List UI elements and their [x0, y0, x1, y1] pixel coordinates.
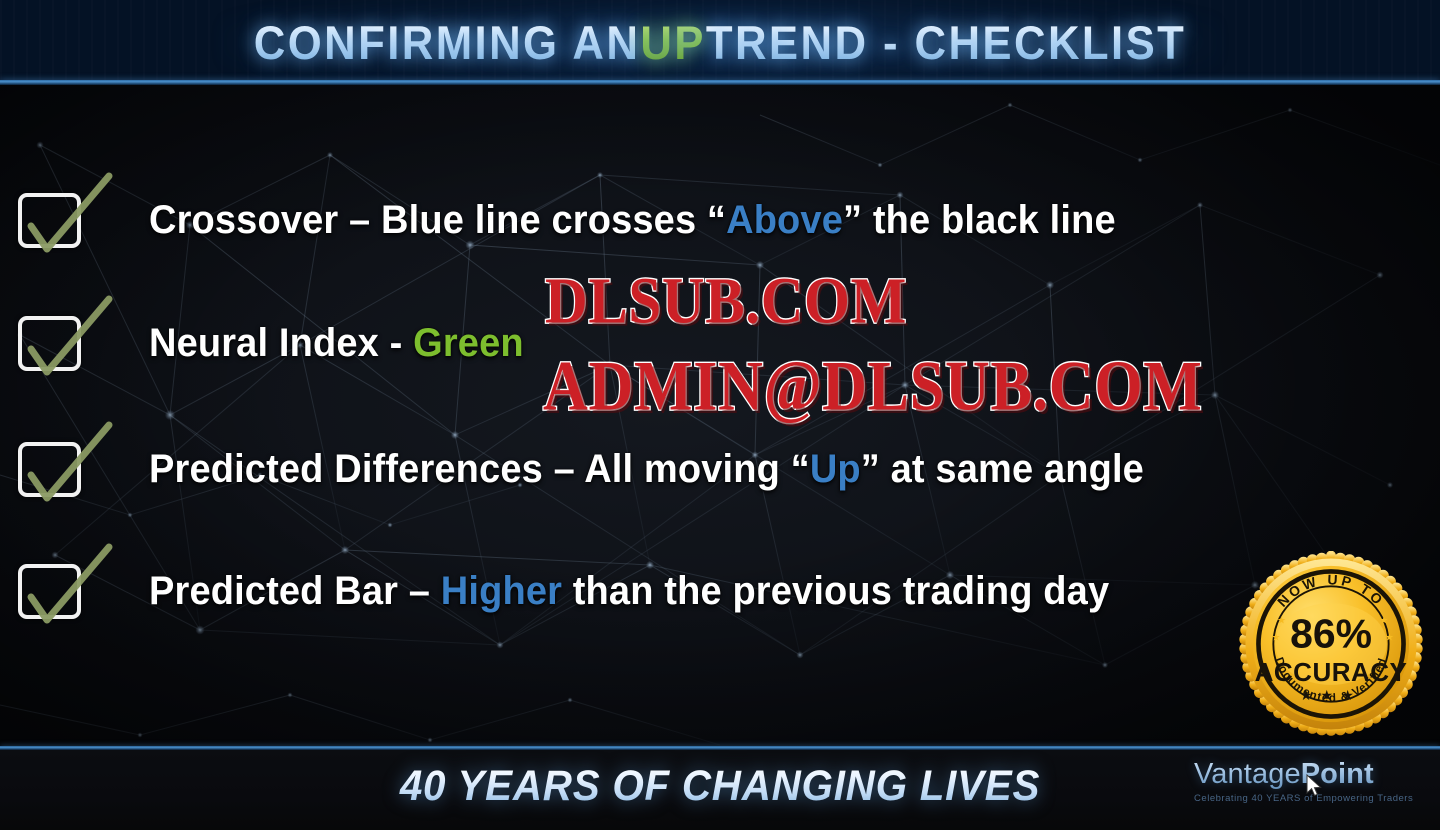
checklist-item-label: Predicted Differences – All moving “Up” … [149, 447, 1144, 492]
text-segment-highlight: Green [413, 321, 524, 365]
checklist-item-label: Predicted Bar – Higher than the previous… [149, 569, 1109, 614]
svg-text:★: ★ [1271, 632, 1280, 643]
checklist-item-crossover[interactable]: Crossover – Blue line crosses “Above” th… [18, 188, 1167, 252]
watermark-site: DLSUB.COM [545, 262, 907, 339]
checked-checkbox-icon[interactable] [18, 442, 81, 497]
checked-checkbox-icon[interactable] [18, 564, 81, 619]
watermark-email: ADMIN@DLSUB.COM [543, 347, 1203, 428]
checked-checkbox-icon[interactable] [18, 193, 81, 248]
checklist-item-predicted-differences[interactable]: Predicted Differences – All moving “Up” … [18, 437, 1196, 501]
text-segment: Crossover – Blue line crosses “ [149, 198, 726, 242]
text-segment: Neural Index - [149, 321, 413, 365]
text-segment: ” at same angle [861, 447, 1144, 491]
checklist-item-label: Crossover – Blue line crosses “Above” th… [149, 198, 1116, 243]
text-segment-highlight: Higher [441, 569, 562, 613]
slide-root: Confirming An Up Trend - Checklist [0, 0, 1440, 830]
accuracy-badge: NOW UP TO 86% ACCURACY ★★★ Documented & … [1238, 551, 1424, 737]
page-title: Confirming An Up Trend - Checklist [50, 0, 1389, 84]
text-segment: Predicted Bar – [149, 569, 441, 613]
svg-text:★: ★ [1385, 632, 1394, 643]
svg-text:★: ★ [1379, 616, 1388, 627]
text-segment-highlight: Above [726, 198, 843, 242]
text-segment-highlight: Up [810, 447, 861, 491]
mouse-cursor-icon [1306, 774, 1324, 800]
badge-percent: 86% [1290, 611, 1372, 657]
title-highlight-up: Up [640, 15, 706, 70]
title-part-1: Confirming An [254, 15, 641, 70]
checklist-item-neural-index[interactable]: Neural Index - Green [18, 311, 543, 375]
logo-word-vantage: Vantage [1194, 758, 1301, 790]
title-part-2: Trend - Checklist [706, 15, 1186, 70]
text-segment: than the previous trading day [562, 569, 1109, 613]
slide-header: Confirming An Up Trend - Checklist [0, 0, 1440, 84]
checklist-item-predicted-bar[interactable]: Predicted Bar – Higher than the previous… [18, 559, 1160, 623]
text-segment: ” the black line [843, 198, 1116, 242]
svg-text:★: ★ [1277, 616, 1286, 627]
checklist-item-label: Neural Index - Green [149, 321, 524, 366]
text-segment: Predicted Differences – All moving “ [149, 447, 810, 491]
checked-checkbox-icon[interactable] [18, 316, 81, 371]
